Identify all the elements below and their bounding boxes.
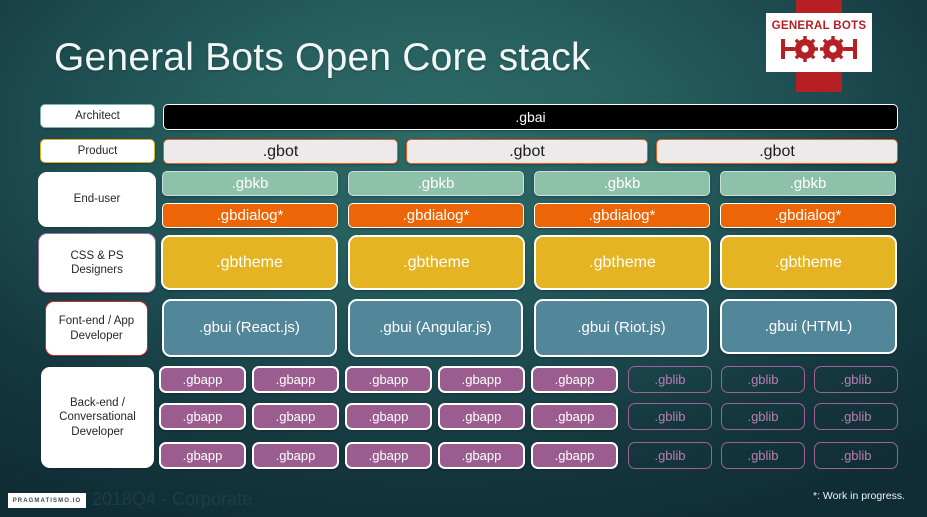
stack-box-gbkb-4: .gbkb [720,171,896,196]
stack-box-gbkb-1: .gbkb [162,171,338,196]
stack-box-gbkb-2: .gbkb [348,171,524,196]
stack-box-label: .gbot [759,143,795,161]
stack-box-label: .gbdialog* [403,207,470,224]
grid-cell-gblib-r2-c3: .gblib [814,403,898,430]
grid-cell-gbapp-r3-c1: .gbapp [159,442,246,469]
grid-cell-label: .gblib [840,372,871,387]
grid-cell-label: .gblib [654,448,685,463]
stack-box-label: .gbtheme [589,254,656,272]
grid-cell-label: .gblib [747,409,778,424]
grid-cell-gbapp-r1-c2: .gbapp [252,366,339,393]
grid-cell-gbapp-r2-c1: .gbapp [159,403,246,430]
stack-box-gbtheme-3: .gbtheme [534,235,711,290]
stack-box-gbkb-3: .gbkb [534,171,710,196]
stack-box-gbui-2: .gbui (Angular.js) [348,299,523,357]
stack-box-gbdialog-3: .gbdialog* [534,203,710,228]
stack-box-label: .gbkb [604,175,641,192]
role-label-back-end-conversational-developer: Back-end /ConversationalDeveloper [41,367,154,468]
stack-box-label: .gbtheme [216,254,283,272]
grid-cell-gbapp-r2-c4: .gbapp [438,403,525,430]
role-label-css-ps-designers: CSS & PSDesigners [38,233,156,293]
grid-cell-label: .gbapp [369,448,409,463]
stack-box-gbui-3: .gbui (Riot.js) [534,299,709,357]
grid-cell-gbapp-r3-c4: .gbapp [438,442,525,469]
grid-cell-label: .gbapp [555,409,595,424]
stack-box-label: .gbot [263,143,299,161]
stack-box-label: .gbai [515,109,545,125]
stack-box-label: .gbtheme [775,254,842,272]
slide-footer: PRAGMATISMO.IO 2018Q4 - Corporate *: Wor… [0,487,927,517]
grid-cell-label: .gbapp [369,372,409,387]
grid-cell-label: .gblib [840,448,871,463]
grid-cell-gblib-r1-c3: .gblib [814,366,898,393]
grid-cell-label: .gbapp [276,372,316,387]
stack-box-gbai-1: .gbai [163,104,898,130]
grid-cell-label: .gbapp [369,409,409,424]
stack-box-label: .gbkb [418,175,455,192]
role-label-text: End-user [74,192,121,206]
footer-caption: 2018Q4 - Corporate [92,489,252,510]
stack-box-gbot-2: .gbot [406,139,648,164]
logo-wordmark: GENERAL BOTS [772,21,867,33]
stack-box-label: .gbui (HTML) [765,318,853,335]
stack-box-gbdialog-2: .gbdialog* [348,203,524,228]
grid-cell-label: .gblib [747,448,778,463]
stack-box-label: .gbui (Angular.js) [379,319,492,336]
grid-cell-gblib-r3-c3: .gblib [814,442,898,469]
grid-cell-label: .gbapp [555,372,595,387]
slide-header: GENERAL BOTS [0,0,927,97]
stack-box-label: .gbdialog* [775,207,842,224]
stack-box-gbui-4: .gbui (HTML) [720,299,897,354]
stack-box-gbtheme-4: .gbtheme [720,235,897,290]
grid-cell-label: .gbapp [276,409,316,424]
grid-cell-gbapp-r3-c2: .gbapp [252,442,339,469]
grid-cell-gbapp-r2-c5: .gbapp [531,403,618,430]
stack-box-label: .gbkb [790,175,827,192]
role-label-end-user: End-user [38,172,156,227]
pragmatismo-logo: PRAGMATISMO.IO [8,493,86,508]
role-label-text: Font-end / AppDeveloper [59,314,134,342]
stack-box-label: .gbkb [232,175,269,192]
footnote-work-in-progress: *: Work in progress. [813,490,905,502]
grid-cell-label: .gblib [654,372,685,387]
grid-cell-gbapp-r2-c2: .gbapp [252,403,339,430]
grid-cell-label: .gbapp [462,448,502,463]
role-label-text: Back-end /ConversationalDeveloper [59,396,136,438]
stack-box-label: .gbot [509,143,545,161]
role-label-font-end-app-developer: Font-end / AppDeveloper [45,301,148,356]
stack-box-gbdialog-4: .gbdialog* [720,203,896,228]
gears-mark-icon [775,34,863,64]
grid-cell-gbapp-r1-c1: .gbapp [159,366,246,393]
grid-cell-label: .gbapp [462,372,502,387]
role-label-text: CSS & PSDesigners [70,249,123,277]
stack-box-label: .gbui (React.js) [199,319,300,336]
grid-cell-gbapp-r1-c3: .gbapp [345,366,432,393]
role-label-text: Architect [75,109,120,123]
grid-cell-gblib-r2-c1: .gblib [628,403,712,430]
grid-cell-gblib-r1-c1: .gblib [628,366,712,393]
grid-cell-label: .gbapp [183,448,223,463]
slide-canvas: GENERAL BOTS [0,0,927,517]
grid-cell-gblib-r3-c2: .gblib [721,442,805,469]
stack-box-gbtheme-2: .gbtheme [348,235,525,290]
grid-cell-gbapp-r1-c4: .gbapp [438,366,525,393]
page-title: General Bots Open Core stack [54,36,591,80]
stack-box-gbdialog-1: .gbdialog* [162,203,338,228]
grid-cell-label: .gblib [654,409,685,424]
grid-cell-gbapp-r2-c3: .gbapp [345,403,432,430]
grid-cell-label: .gblib [747,372,778,387]
stack-box-label: .gbdialog* [589,207,656,224]
stack-box-gbot-3: .gbot [656,139,898,164]
grid-cell-label: .gblib [840,409,871,424]
stack-box-label: .gbtheme [403,254,470,272]
grid-cell-label: .gbapp [183,409,223,424]
grid-cell-gblib-r2-c2: .gblib [721,403,805,430]
role-label-text: Product [78,144,118,158]
stack-box-label: .gbui (Riot.js) [577,319,665,336]
general-bots-logo: GENERAL BOTS [766,13,872,72]
grid-cell-gblib-r3-c1: .gblib [628,442,712,469]
stack-box-gbot-1: .gbot [163,139,398,164]
grid-cell-gbapp-r1-c5: .gbapp [531,366,618,393]
stack-box-gbui-1: .gbui (React.js) [162,299,337,357]
stack-box-label: .gbdialog* [217,207,284,224]
grid-cell-label: .gbapp [555,448,595,463]
grid-cell-gbapp-r3-c5: .gbapp [531,442,618,469]
grid-cell-label: .gbapp [183,372,223,387]
grid-cell-label: .gbapp [462,409,502,424]
grid-cell-gblib-r1-c2: .gblib [721,366,805,393]
grid-cell-label: .gbapp [276,448,316,463]
role-label-architect: Architect [40,104,155,128]
role-label-product: Product [40,139,155,163]
stack-box-gbtheme-1: .gbtheme [161,235,338,290]
grid-cell-gbapp-r3-c3: .gbapp [345,442,432,469]
